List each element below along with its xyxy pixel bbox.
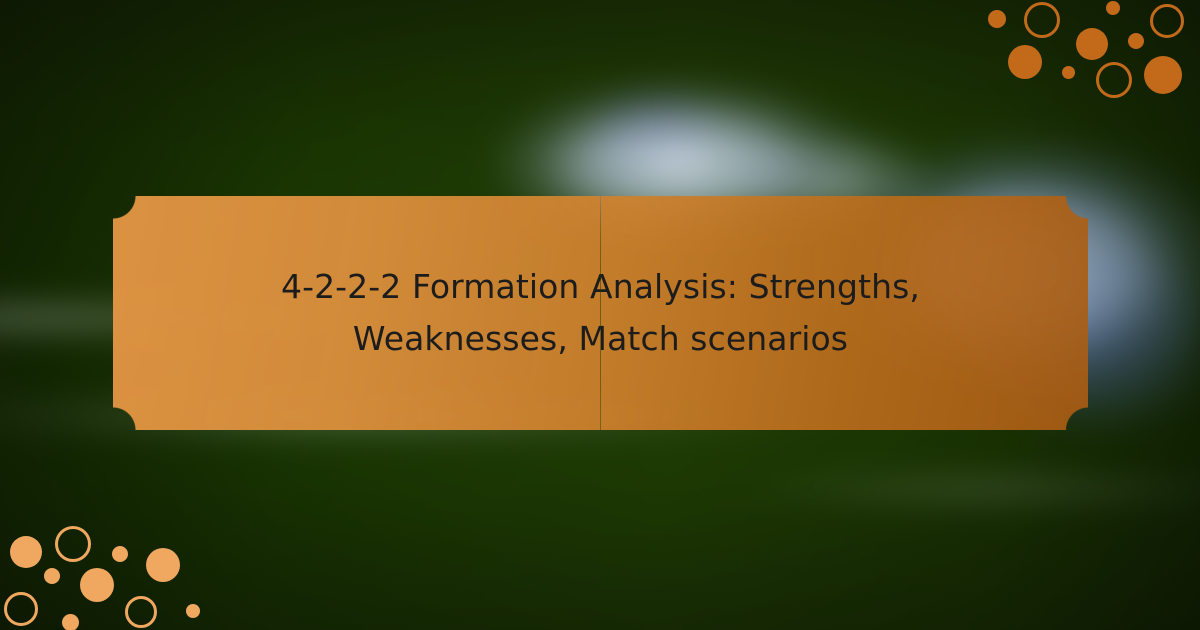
decorative-circle: [988, 10, 1006, 28]
decorative-circle: [80, 568, 114, 602]
page-title: 4-2-2-2 Formation Analysis: Strengths, W…: [251, 261, 951, 365]
banner-image: 4-2-2-2 Formation Analysis: Strengths, W…: [0, 0, 1200, 630]
decorative-circle: [4, 592, 38, 626]
decorative-circle: [1096, 62, 1132, 98]
decorative-circle: [1128, 33, 1144, 49]
decorative-circle: [112, 546, 128, 562]
decorative-circle: [1024, 2, 1060, 38]
title-card: 4-2-2-2 Formation Analysis: Strengths, W…: [113, 196, 1088, 430]
decorative-circle: [1106, 1, 1120, 15]
decorative-circle: [1008, 45, 1042, 79]
decorative-circle: [44, 568, 60, 584]
decorative-circle: [1144, 56, 1182, 94]
decorative-circle: [1062, 66, 1075, 79]
decorative-circle: [55, 526, 91, 562]
decorative-circle: [1150, 4, 1184, 38]
decorative-circle: [146, 548, 180, 582]
decorative-circle: [10, 536, 42, 568]
decorative-circles-top-right: [980, 0, 1200, 120]
decorative-circles-bottom-left: [0, 510, 230, 630]
decorative-circle: [1076, 28, 1108, 60]
decorative-circle: [186, 604, 200, 618]
decorative-circle: [125, 596, 157, 628]
decorative-circle: [62, 614, 79, 630]
